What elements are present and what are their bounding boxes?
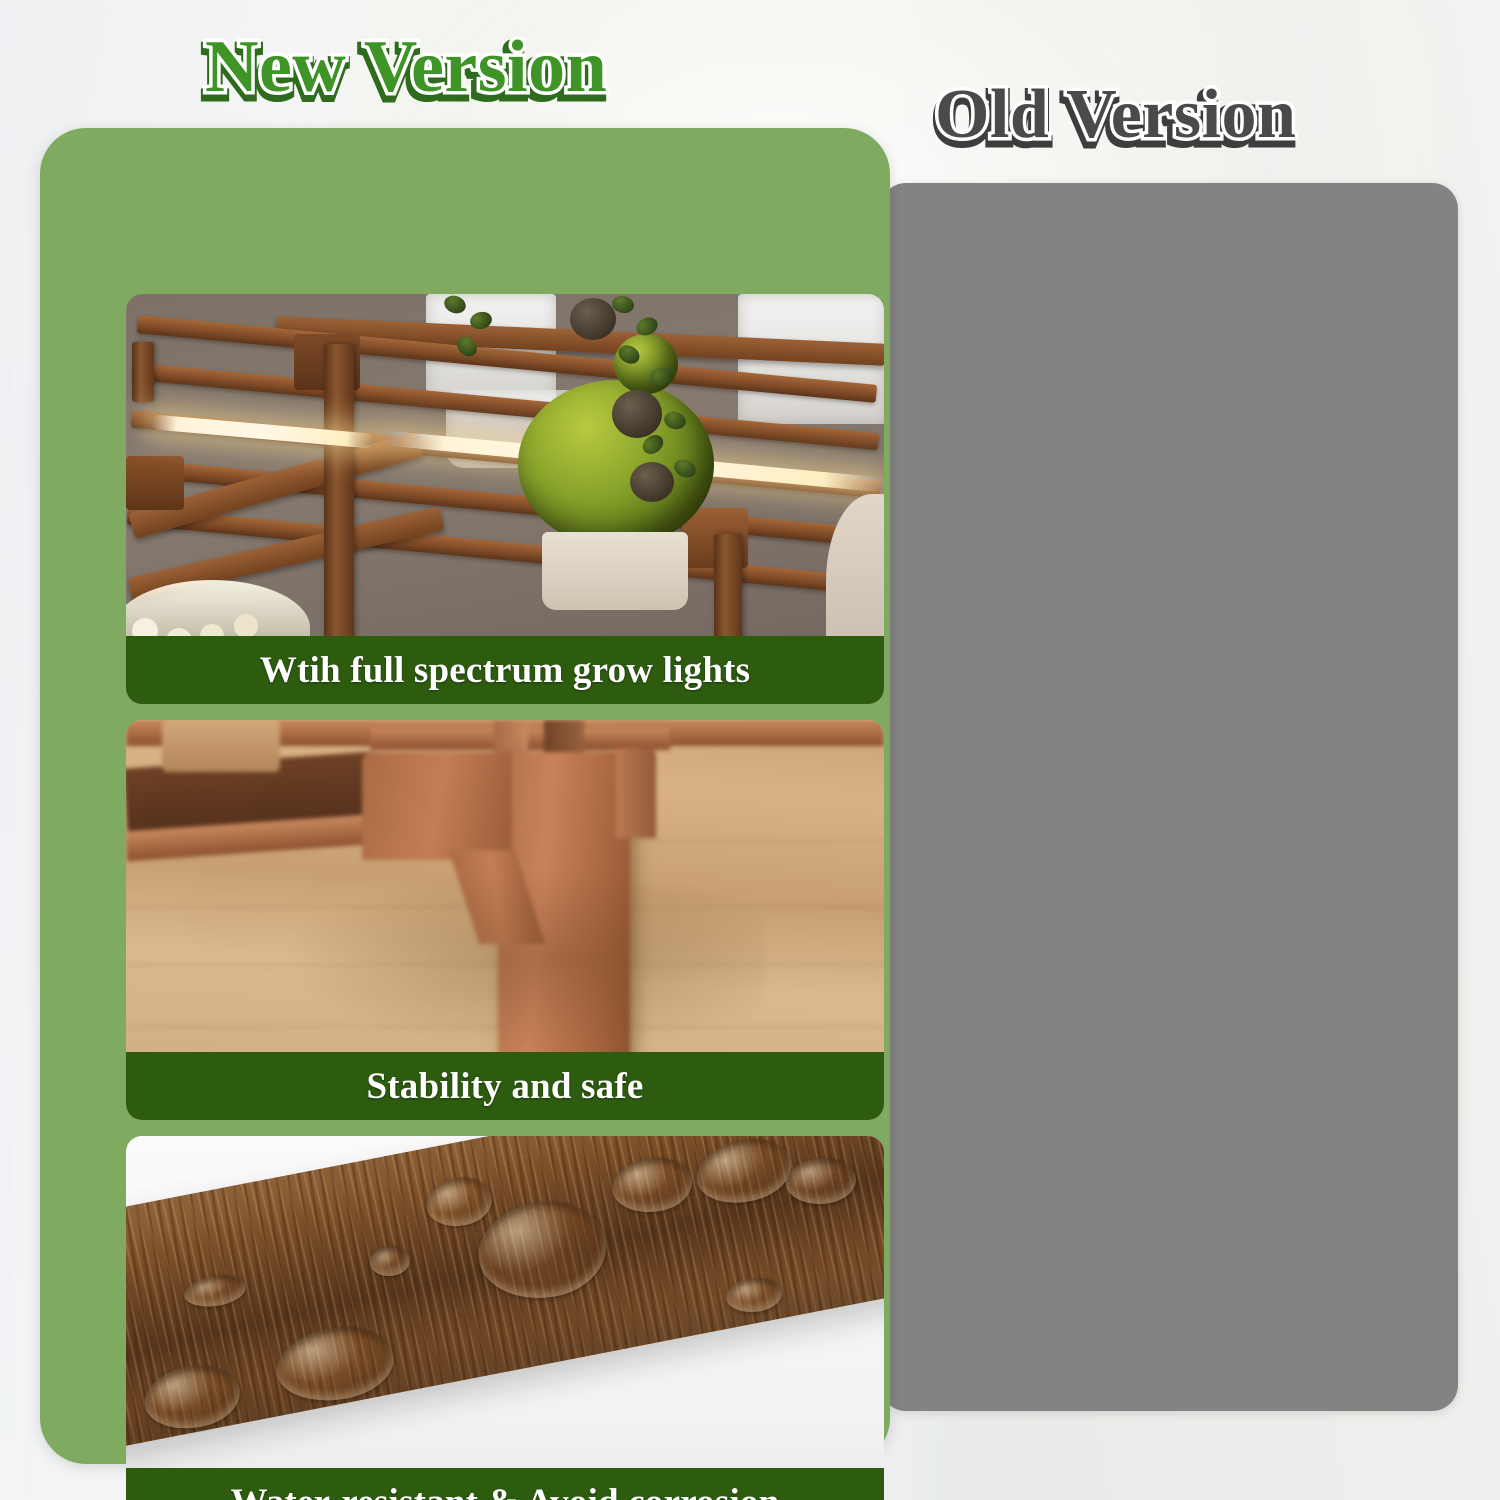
- new-feature-card-2: Stability and safe: [126, 720, 884, 1120]
- infographic-canvas: Insufficient light for plants: [0, 0, 1500, 1500]
- new-feature-card-3: Water-resistant & Avoid corrosion: [126, 1136, 884, 1500]
- old-version-panel: Insufficient light for plants: [880, 183, 1458, 1411]
- new-feature-card-1: Wtih full spectrum grow lights: [126, 294, 884, 704]
- new-version-title: New Version: [205, 30, 607, 104]
- new-feature-caption-2: Stability and safe: [126, 1052, 884, 1120]
- new-feature-caption-1: Wtih full spectrum grow lights: [126, 636, 884, 704]
- new-feature-image-3: [126, 1136, 884, 1500]
- old-version-title: Old Version: [935, 80, 1296, 150]
- new-version-panel: Wtih full spectrum grow lights: [40, 128, 890, 1464]
- new-feature-caption-3: Water-resistant & Avoid corrosion: [126, 1468, 884, 1500]
